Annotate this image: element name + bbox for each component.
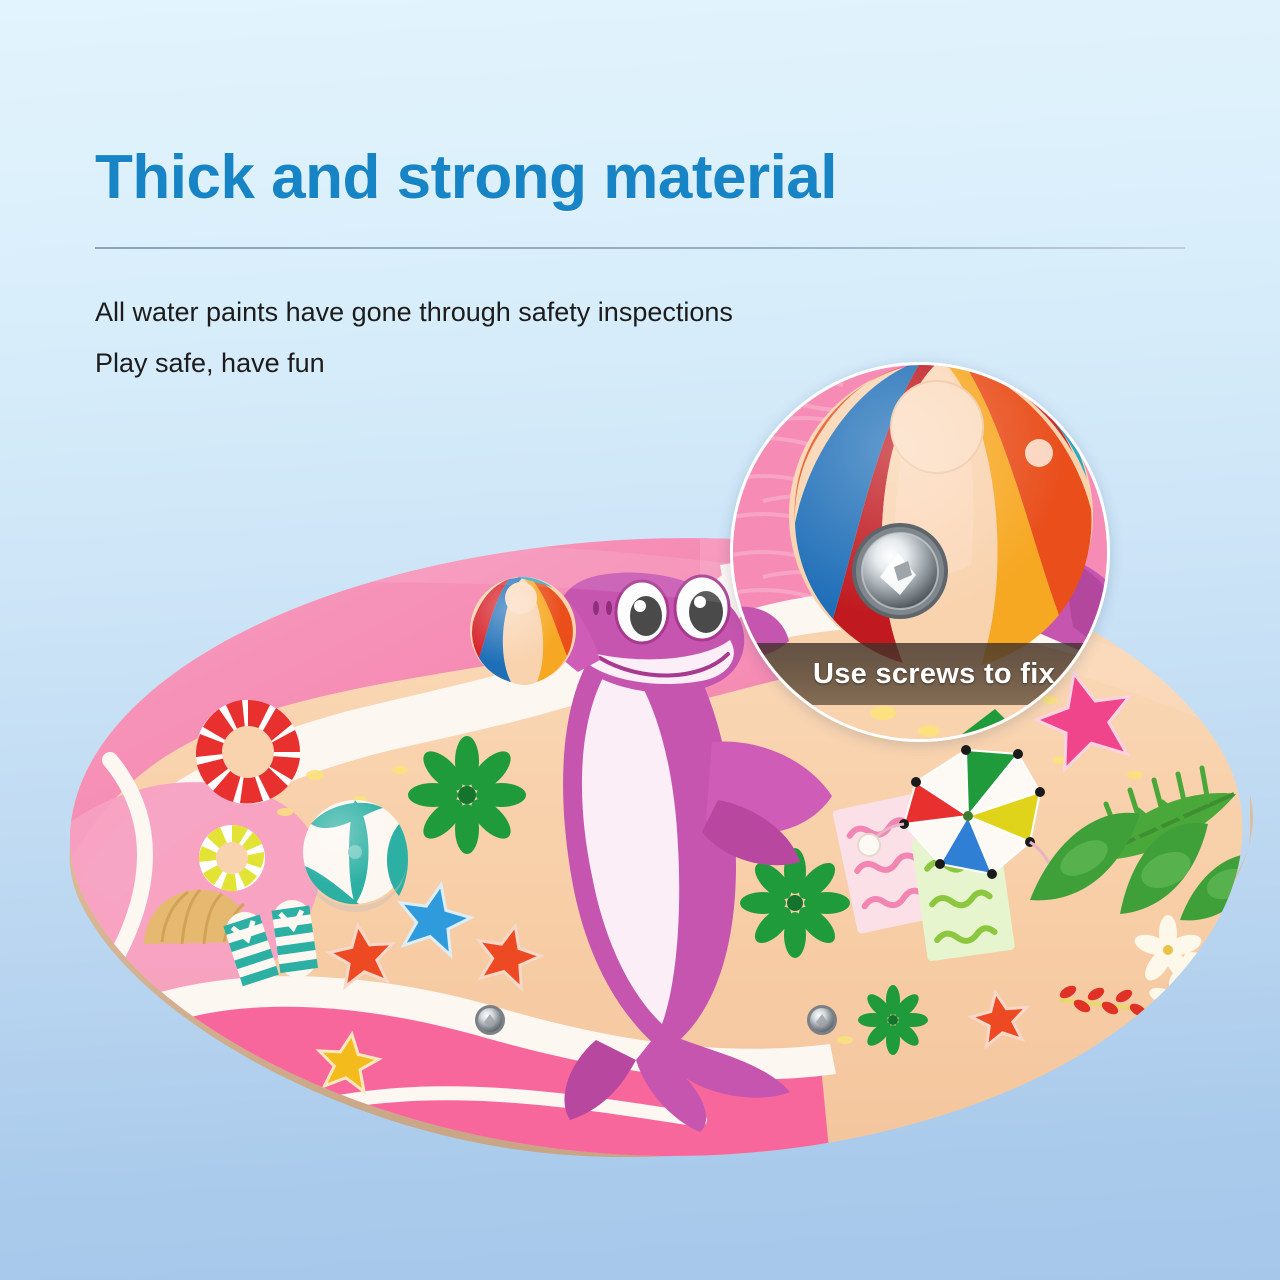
zoom-screw <box>852 523 948 619</box>
green-flower-large <box>408 736 526 854</box>
teal-beach-ball <box>303 800 408 912</box>
red-life-ring <box>196 700 300 804</box>
green-flower-small <box>858 985 928 1055</box>
screw-left <box>475 1005 505 1035</box>
callout-caption-bar: Use screws to fix <box>733 643 1107 705</box>
yellow-life-ring <box>199 825 265 891</box>
screw-right <box>807 1005 837 1035</box>
callout-caption-text: Use screws to fix <box>813 658 1055 691</box>
magnifier-callout: Use screws to fix <box>730 362 1110 742</box>
